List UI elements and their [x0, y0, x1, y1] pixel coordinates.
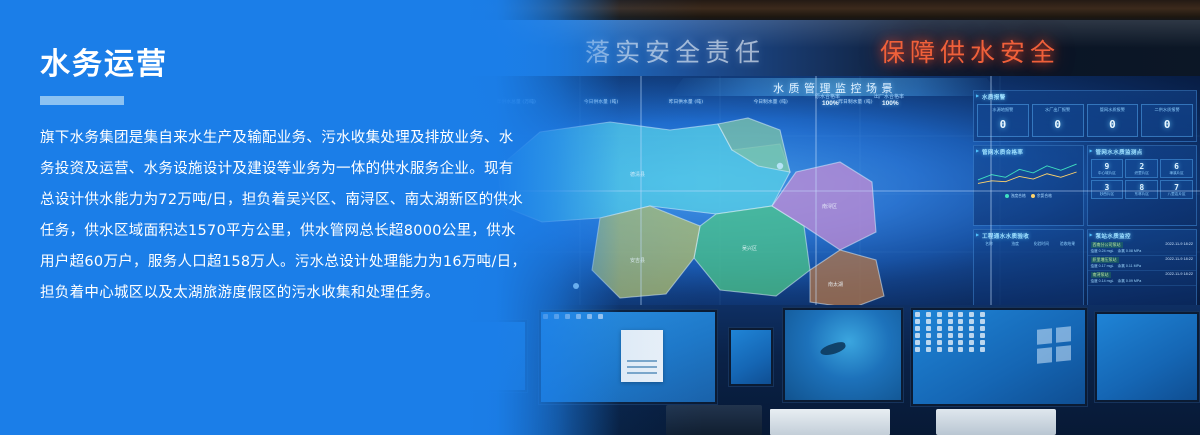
desktop-icon[interactable]: [937, 326, 942, 331]
banner-stage: 落实安全责任 保障供水安全 水质管理监控场景 年供水总量 (万吨) 今日供水量 …: [0, 0, 1200, 435]
log-timestamp: 2022-11-9 18:22: [1165, 257, 1193, 263]
led-banner: 落实安全责任 保障供水安全: [470, 20, 1200, 82]
desktop-icon[interactable]: [958, 347, 963, 352]
log-metric: 余氯 0.08 MPa: [1118, 249, 1142, 254]
monitor-screen: [541, 312, 715, 402]
alarm-card-label: 水厂出厂报警: [1033, 107, 1083, 113]
desktop-icon[interactable]: [543, 314, 548, 319]
desktop-icon[interactable]: [565, 314, 570, 319]
desktop-icon[interactable]: [980, 347, 985, 352]
desktop-icon[interactable]: [926, 326, 931, 331]
panel-water-quality-alarm: 水质报警 水源地报警 0 水厂出厂报警 0 管网水质报警 0: [973, 90, 1197, 142]
monitor-point-card[interactable]: 6埭溪片区: [1160, 159, 1193, 178]
windows-logo-icon: [1037, 326, 1071, 364]
text-content-block: 水务运营 旗下水务集团是集自来水生产及输配业务、污水收集处理及排放业务、水 务投…: [40, 48, 560, 309]
description-line: 任务，供水区域面积达1570平方公里，供水管网总长超8000公里，供水: [40, 216, 560, 247]
desktop-icon-grid: [915, 312, 989, 352]
map-label: 德清县: [630, 171, 645, 178]
desktop-icon[interactable]: [937, 347, 942, 352]
monitor-screen: [731, 330, 771, 384]
desktop-icon[interactable]: [948, 319, 953, 324]
video-wall-seam: [640, 76, 642, 311]
alarm-card-value: 0: [1000, 118, 1007, 131]
video-wall-seam: [470, 190, 1200, 192]
gauge-label: 原水合格率: [815, 93, 840, 100]
desktop-icon[interactable]: [980, 312, 985, 317]
log-metrics: 浊度 0.17 mgL 余氯 0.11 MPa: [1091, 264, 1194, 269]
desktop-icon[interactable]: [948, 347, 953, 352]
kpi-label: 昨日制水量 (吨): [838, 100, 872, 105]
alarm-card[interactable]: 管网水质报警 0: [1087, 104, 1139, 137]
district-anji: [592, 206, 700, 298]
desktop-icon[interactable]: [980, 340, 985, 345]
monitor-screen: [470, 322, 525, 390]
district-nantaihu: [810, 250, 884, 308]
monitor-sea-wallpaper: [782, 307, 904, 403]
table-column-header: 验收结果: [1055, 242, 1079, 247]
monitor-small-center: [728, 327, 774, 387]
panel-pump-station-monitor: 泵站水质监控 西南分公司泵站 2022-11-9 18:22 浊度 0.24 m…: [1087, 229, 1198, 310]
desktop-icon[interactable]: [937, 340, 942, 345]
desktop-icon[interactable]: [969, 347, 974, 352]
monitor-point-value: 2: [1126, 162, 1157, 171]
monitor-point-label: 织里片区: [1126, 171, 1157, 176]
desktop-icon[interactable]: [958, 333, 963, 338]
gauge-value: 100%: [822, 100, 839, 107]
log-metric: 余氯 0.09 MPa: [1118, 279, 1142, 284]
log-row-top: 西南分公司泵站 2022-11-9 18:22: [1091, 242, 1194, 248]
desktop-icon[interactable]: [598, 314, 603, 319]
led-banner-right-text: 保障供水安全: [880, 33, 1060, 69]
page-title: 水务运营: [40, 48, 560, 83]
monitor-screen: [1097, 314, 1197, 400]
dashboard-wall: 水质管理监控场景 年供水总量 (万吨) 今日供水量 (吨) 昨日供水量 (吨) …: [470, 76, 1200, 311]
log-metric: 余氯 0.11 MPa: [1118, 264, 1141, 269]
laptop-screen: [770, 409, 890, 435]
log-station-name: 织里增压泵站: [1091, 257, 1119, 263]
alarm-card-label: 二供水质报警: [1142, 107, 1192, 113]
title-underline: [40, 96, 124, 105]
monitor-windows-desktop: [910, 307, 1088, 407]
operator-desk: [470, 305, 1200, 435]
alarm-card-value: 0: [1109, 118, 1116, 131]
keyboard[interactable]: [666, 405, 762, 435]
desktop-icon[interactable]: [948, 312, 953, 317]
alarm-card-grid: 水源地报警 0 水厂出厂报警 0 管网水质报警 0 二供水质报警: [974, 102, 1196, 141]
desktop-icon[interactable]: [915, 312, 920, 317]
desktop-icon[interactable]: [958, 312, 963, 317]
desktop-icon[interactable]: [948, 326, 953, 331]
desktop-icon[interactable]: [926, 347, 931, 352]
desktop-icon[interactable]: [948, 333, 953, 338]
desktop-icon[interactable]: [948, 340, 953, 345]
legend-label: 余氯合格: [1037, 194, 1052, 198]
log-metrics: 浊度 0.24 mgL 余氯 0.08 MPa: [1091, 249, 1194, 254]
log-metric: 浊度 0.24 mgL: [1091, 249, 1114, 254]
desktop-icon[interactable]: [969, 312, 974, 317]
gauge-label: 出厂水合格率: [874, 93, 904, 100]
diver-silhouette: [819, 340, 847, 358]
alarm-card-value: 0: [1054, 118, 1061, 131]
legend-item: 浊度合格: [1005, 194, 1026, 199]
desktop-icon[interactable]: [937, 333, 942, 338]
alarm-card-label: 水源地报警: [978, 107, 1028, 113]
desktop-icon[interactable]: [915, 347, 920, 352]
kpi-label: 今日供水量 (吨): [584, 100, 618, 105]
desktop-icon[interactable]: [980, 319, 985, 324]
desktop-icon[interactable]: [958, 319, 963, 324]
log-row[interactable]: 西南分公司泵站 2022-11-9 18:22 浊度 0.24 mgL 余氯 0…: [1088, 241, 1197, 256]
log-row[interactable]: 织里增压泵站 2022-11-9 18:22 浊度 0.17 mgL 余氯 0.…: [1088, 256, 1197, 271]
desktop-icon[interactable]: [915, 319, 920, 324]
panel-heading: 水质报警: [974, 91, 1196, 102]
monitor-point-card[interactable]: 9中心城片区: [1091, 159, 1124, 178]
led-glare: [470, 20, 1200, 82]
log-timestamp: 2022-11-9 18:22: [1165, 242, 1193, 248]
kpi-label: 昨日供水量 (吨): [669, 100, 703, 105]
log-metric: 浊度 0.14 mgL: [1091, 279, 1114, 284]
alarm-card[interactable]: 水厂出厂报警 0: [1032, 104, 1084, 137]
monitor-point-label: 妙西片区: [1092, 192, 1123, 197]
alarm-card-value: 0: [1164, 118, 1171, 131]
led-banner-left-text: 落实安全责任: [585, 33, 765, 69]
legend-item: 余氯合格: [1031, 194, 1052, 199]
alarm-card[interactable]: 二供水质报警 0: [1141, 104, 1193, 137]
desktop-icon[interactable]: [926, 333, 931, 338]
monitor-point-label: 中心城片区: [1092, 171, 1123, 176]
monitor-point-card[interactable]: 2织里片区: [1125, 159, 1158, 178]
kpi-label: 今日制水量 (吨): [754, 100, 788, 105]
video-wall-seam: [815, 76, 817, 311]
desktop-icon[interactable]: [554, 314, 559, 319]
monitor-left-edge: [470, 319, 528, 393]
log-row[interactable]: 南浔泵站 2022-11-9 18:22 浊度 0.14 mgL 余氯 0.09…: [1088, 271, 1197, 286]
description-line: 担负着中心城区以及太湖旅游度假区的污水收集和处理任务。: [40, 278, 560, 309]
monitor-doc-screen: [538, 309, 718, 405]
control-room-photo: 落实安全责任 保障供水安全 水质管理监控场景 年供水总量 (万吨) 今日供水量 …: [470, 0, 1200, 435]
description-line: 总设计供水能力为72万吨/日，担负着吴兴区、南浔区、南太湖新区的供水: [40, 185, 560, 216]
monitor-point-label: 八里店片区: [1161, 192, 1192, 197]
description-paragraph: 旗下水务集团是集自来水生产及输配业务、污水收集处理及排放业务、水 务投资及运营、…: [40, 123, 560, 309]
monitor-point-label: 埭溪片区: [1161, 171, 1192, 176]
desktop-icon[interactable]: [937, 312, 942, 317]
dashboard-sidebar: 水质报警 水源地报警 0 水厂出厂报警 0 管网水质报警 0: [970, 88, 1200, 311]
desktop-icon[interactable]: [915, 333, 920, 338]
log-station-name: 西南分公司泵站: [1091, 242, 1123, 248]
log-timestamp: 2022-11-9 18:22: [1165, 272, 1193, 278]
desktop-icon[interactable]: [587, 314, 592, 319]
desktop-icon[interactable]: [576, 314, 581, 319]
monitor-point-value: 9: [1092, 162, 1123, 171]
document-window: [621, 330, 663, 382]
description-line: 务投资及运营、水务设施设计及建设等业务为一体的供水服务企业。现有: [40, 154, 560, 185]
map-label: 安吉县: [630, 257, 645, 264]
alarm-card[interactable]: 水源地报警 0: [977, 104, 1029, 137]
description-line: 旗下水务集团是集自来水生产及输配业务、污水收集处理及排放业务、水: [40, 123, 560, 154]
desktop-icon[interactable]: [926, 319, 931, 324]
desktop-icon[interactable]: [915, 326, 920, 331]
map-label: 南浔区: [822, 203, 837, 210]
log-station-name: 南浔泵站: [1091, 272, 1111, 278]
desktop-icon[interactable]: [958, 326, 963, 331]
panel-heading: 泵站水质监控: [1088, 230, 1197, 241]
desktop-icon[interactable]: [937, 319, 942, 324]
video-wall-seam: [990, 76, 992, 311]
desktop-icon-grid: [543, 314, 607, 319]
monitor-point-label: 东林片区: [1126, 192, 1157, 197]
monitor-right-edge: [1094, 311, 1200, 403]
panel-monitor-points: 管网水水质监测点 9中心城片区 2织里片区 6埭溪片区 3妙西片区 8东林片区 …: [1087, 145, 1198, 226]
monitor-point-value: 6: [1161, 162, 1192, 171]
panel-heading: 管网水水质监测点: [1088, 146, 1197, 157]
desktop-icon[interactable]: [980, 333, 985, 338]
desktop-icon[interactable]: [980, 326, 985, 331]
table-column-header: 浊度: [1003, 242, 1027, 247]
desktop-icon[interactable]: [926, 312, 931, 317]
sidebar-bottom-row: 工程通水水质验收 名称 浊度 化验时间 验收结果 泵站水质监控 西南分公司泵站: [973, 229, 1197, 310]
legend-label: 浊度合格: [1011, 194, 1026, 198]
desktop-icon[interactable]: [958, 340, 963, 345]
desktop-icon[interactable]: [969, 340, 974, 345]
gauge-value: 100%: [882, 100, 899, 107]
alarm-card-label: 管网水质报警: [1088, 107, 1138, 113]
monitor-screen: [785, 310, 901, 400]
sidebar-middle-row: 管网水质合格率 浊度合格 余氯合格 管网水水质监测点 9: [973, 145, 1197, 226]
log-metrics: 浊度 0.14 mgL 余氯 0.09 MPa: [1091, 279, 1194, 284]
monitor-point-grid: 9中心城片区 2织里片区 6埭溪片区 3妙西片区 8东林片区 7八里店片区: [1088, 157, 1197, 202]
table-column-header: 化验时间: [1029, 242, 1053, 247]
description-line: 用户超60万户，服务人口超158万人。污水总设计处理能力为16万吨/日，: [40, 247, 560, 278]
desktop-icon[interactable]: [969, 333, 974, 338]
desktop-icon[interactable]: [915, 340, 920, 345]
desktop-icon[interactable]: [926, 340, 931, 345]
paper-sheet: [936, 409, 1056, 435]
log-row-top: 织里增压泵站 2022-11-9 18:22: [1091, 257, 1194, 263]
log-row-top: 南浔泵站 2022-11-9 18:22: [1091, 272, 1194, 278]
desktop-icon[interactable]: [969, 319, 974, 324]
monitor-screen: [913, 310, 1085, 404]
log-metric: 浊度 0.17 mgL: [1091, 264, 1114, 269]
map-label: 吴兴区: [742, 245, 757, 252]
map-label: 南太湖: [828, 281, 843, 288]
desktop-icon[interactable]: [969, 326, 974, 331]
